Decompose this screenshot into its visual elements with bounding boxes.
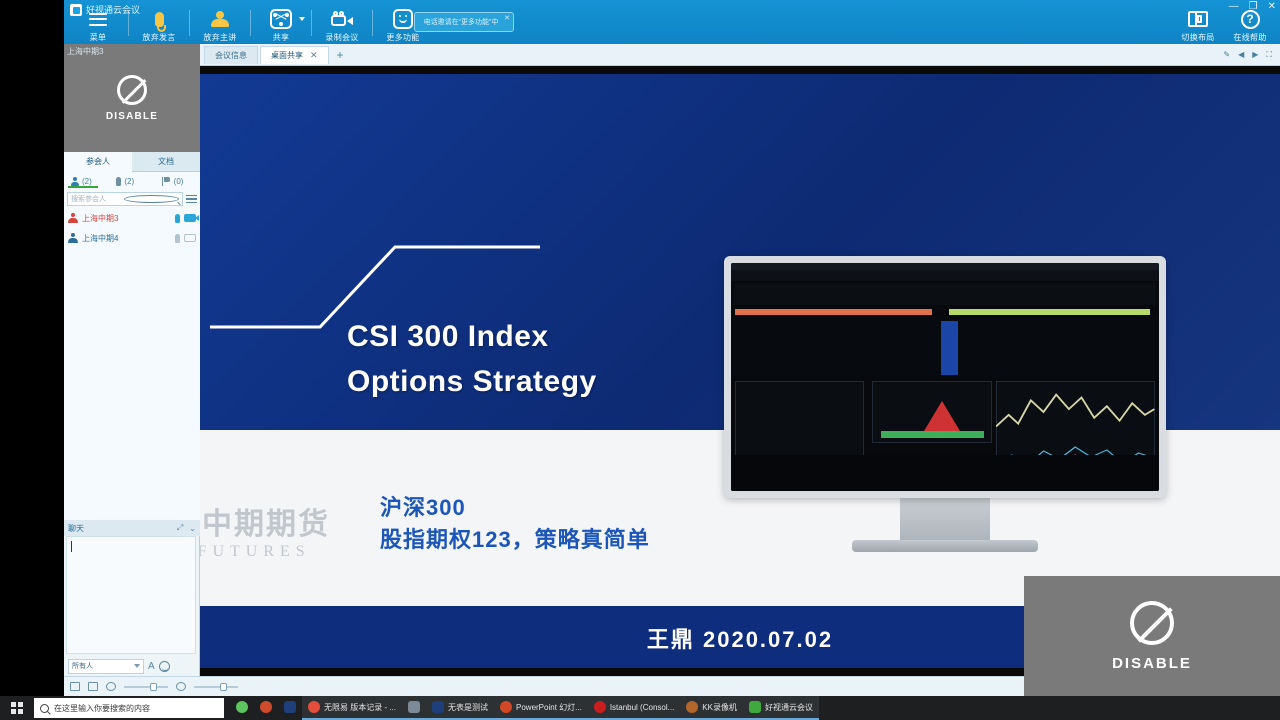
share-icon	[255, 8, 307, 30]
list-item[interactable]: 上海中期4	[64, 228, 200, 248]
taskbar-item-explorer[interactable]	[402, 696, 426, 720]
toolbar-buttons: 菜单 放弃发言 放弃主讲 共享	[72, 8, 429, 43]
presenter-icon	[194, 8, 246, 30]
windows-taskbar: 在这里输入你要搜索的内容 无限易 版本记录 - ... 无表是测试	[0, 696, 1280, 720]
participant-name: 上海中期3	[82, 213, 171, 224]
chat-controls: 所有人 A	[64, 656, 200, 676]
no-entry-icon	[117, 75, 147, 105]
tab-documents[interactable]: 文档	[132, 152, 200, 172]
taskbar-item-label: KK录像机	[702, 702, 737, 713]
layout-icon	[1172, 8, 1224, 30]
document-tabbar: 会议信息 桌面共享 ✕ + ✎ ◀ ▶ ⛶	[200, 44, 1280, 66]
taskbar-item-istanbul[interactable]: Istanbul (Consol...	[588, 696, 680, 720]
trading-software-screenshot	[731, 263, 1159, 491]
microphone-icon	[133, 8, 185, 30]
volume-icon[interactable]	[176, 682, 186, 691]
monitor-graphic	[724, 256, 1166, 556]
no-entry-icon	[1130, 601, 1174, 645]
avatar	[68, 233, 78, 243]
screen-icon[interactable]	[70, 682, 80, 691]
tab-meeting-info[interactable]: 会议信息	[204, 46, 258, 64]
chrome-icon	[308, 701, 320, 713]
monitor-stand	[900, 498, 990, 542]
taskbar-item-meeting-app[interactable]: 好视通云会议	[743, 696, 819, 720]
tab-desktop-share-label: 桌面共享	[271, 50, 303, 61]
menu-button[interactable]: 菜单	[72, 8, 124, 43]
list-item[interactable]: 上海中期3	[64, 208, 200, 228]
record-label: 录制会议	[316, 32, 368, 43]
search-placeholder: 搜索参会人	[71, 194, 124, 204]
taskbar-search-input[interactable]: 在这里输入你要搜索的内容	[34, 698, 224, 718]
camcorder-icon	[316, 8, 368, 30]
overlay-disable-label: DISABLE	[1112, 655, 1192, 672]
chat-recipient-select[interactable]: 所有人	[68, 659, 144, 674]
taskbar-items: 无限易 版本记录 - ... 无表是测试 PowerPoint 幻灯... Is…	[230, 696, 819, 720]
count-raised-hands[interactable]: (0)	[155, 177, 200, 186]
search-input[interactable]: 搜索参会人	[67, 192, 183, 206]
qq-icon	[260, 701, 272, 713]
feishu-icon	[284, 701, 296, 713]
microphone-volume-slider[interactable]	[124, 682, 168, 692]
chevron-down-icon	[134, 664, 140, 668]
taskbar-item-label: 好视通云会议	[765, 702, 813, 713]
taskbar-item-label: 无表是测试	[448, 702, 488, 713]
hamburger-icon	[72, 8, 124, 30]
online-help-label: 在线帮助	[1224, 32, 1276, 43]
online-help-button[interactable]: ? 在线帮助	[1224, 8, 1276, 43]
subtitle-line-2: 股指期权123，策略真简单	[380, 524, 650, 556]
give-up-speak-label: 放弃发言	[133, 32, 185, 43]
invite-tooltip: 电话邀请在“更多功能”中 ✕	[414, 12, 514, 32]
divider	[250, 10, 251, 36]
taskbar-item-wechat[interactable]	[230, 696, 254, 720]
count-raised-hands-value: (0)	[174, 177, 184, 186]
count-participants-value: (2)	[82, 177, 92, 186]
chat-messages	[66, 536, 196, 654]
subtitle-line-1: 沪深300	[380, 492, 650, 524]
title-line-1: CSI 300 Index	[347, 314, 597, 359]
expand-icon[interactable]: ⤢	[177, 523, 183, 533]
menu-label: 菜单	[72, 32, 124, 43]
participant-name: 上海中期4	[82, 233, 171, 244]
add-tab-button[interactable]: +	[331, 48, 350, 62]
taskbar-item-chrome[interactable]: 无限易 版本记录 - ...	[302, 696, 402, 720]
annotate-icon[interactable]: ✎	[1223, 50, 1230, 60]
divider	[128, 10, 129, 36]
count-speakers[interactable]: (2)	[109, 177, 154, 186]
video-disable-label: DISABLE	[106, 111, 158, 122]
app-icon	[749, 701, 761, 713]
microphone-on-icon[interactable]	[175, 214, 180, 223]
tab-desktop-share[interactable]: 桌面共享 ✕	[260, 46, 329, 64]
taskbar-item-qq[interactable]	[254, 696, 278, 720]
tabbar-tools: ✎ ◀ ▶ ⛶	[1223, 50, 1280, 60]
chevron-down-icon[interactable]: ⌄	[189, 524, 196, 533]
camera-off-icon[interactable]	[184, 234, 196, 242]
chat-recipient-value: 所有人	[72, 661, 134, 671]
taskbar-search-placeholder: 在这里输入你要搜索的内容	[54, 703, 150, 714]
divider	[372, 10, 373, 36]
divider	[311, 10, 312, 36]
title-line-2: Options Strategy	[347, 359, 597, 404]
toolbar-right-buttons: 切换布局 ? 在线帮助	[1172, 8, 1276, 43]
taskbar-item-feishu[interactable]	[278, 696, 302, 720]
monitor-base	[852, 540, 1038, 552]
person-icon	[71, 177, 79, 186]
video-disabled-overlay: DISABLE	[1024, 576, 1280, 696]
text-caret	[71, 541, 72, 552]
flag-icon	[162, 177, 171, 186]
taskbar-item-feishu-doc[interactable]: 无表是测试	[426, 696, 494, 720]
taskbar-item-kk-recorder[interactable]: KK录像机	[680, 696, 743, 720]
explorer-icon	[408, 701, 420, 713]
monitor-bezel	[724, 256, 1166, 498]
share-button[interactable]: 共享	[255, 8, 307, 43]
font-icon[interactable]: A	[148, 661, 155, 672]
microphone-icon[interactable]	[106, 682, 116, 691]
search-icon	[40, 704, 49, 713]
tab-participants[interactable]: 参会人	[64, 152, 132, 172]
sidebar: 上海中期3 DISABLE 参会人 文档 (2) (2)	[64, 44, 200, 696]
sidebar-search-row: 搜索参会人	[64, 190, 200, 208]
chat-header: 聊天 ⤢ ⌄	[64, 520, 200, 536]
close-icon[interactable]: ✕	[310, 50, 318, 61]
avatar	[68, 213, 78, 223]
chevron-down-icon[interactable]	[299, 17, 305, 21]
taskbar-item-label: Istanbul (Consol...	[610, 703, 674, 712]
share-label: 共享	[255, 32, 307, 43]
slide-subtitle: 沪深300 股指期权123，策略真简单	[380, 492, 650, 556]
powerpoint-icon	[500, 701, 512, 713]
feishu-icon	[432, 701, 444, 713]
count-participants[interactable]: (2)	[64, 177, 109, 186]
count-speakers-value: (2)	[124, 177, 134, 186]
record-button[interactable]: 录制会议	[316, 8, 368, 43]
page-title: CSI 300 Index Options Strategy	[347, 314, 597, 404]
istanbul-icon	[594, 701, 606, 713]
next-icon[interactable]: ▶	[1252, 50, 1258, 60]
participant-counts: (2) (2) (0)	[64, 172, 200, 190]
divider	[189, 10, 190, 36]
tab-meeting-info-label: 会议信息	[215, 50, 247, 61]
participant-list: 上海中期3 上海中期4	[64, 208, 200, 520]
give-up-speak-button[interactable]: 放弃发言	[133, 8, 185, 43]
give-up-host-label: 放弃主讲	[194, 32, 246, 43]
taskbar-item-label: 无限易 版本记录 - ...	[324, 702, 396, 713]
tooltip-close-icon[interactable]: ✕	[504, 14, 510, 22]
question-icon: ?	[1224, 8, 1276, 30]
app-toolbar: 好视通云会议 — ❐ ✕ 菜单 放弃发言 放弃主讲	[64, 0, 1280, 44]
list-icon[interactable]	[186, 195, 197, 204]
video-disabled-state: DISABLE	[64, 44, 200, 152]
list-icon[interactable]	[88, 682, 98, 691]
wechat-icon	[236, 701, 248, 713]
camera-on-icon[interactable]	[184, 214, 196, 222]
microphone-off-icon[interactable]	[175, 234, 180, 243]
switch-layout-label: 切换布局	[1172, 32, 1224, 43]
sidebar-tabs: 参会人 文档	[64, 152, 200, 172]
prev-icon[interactable]: ◀	[1238, 50, 1244, 60]
invite-tooltip-text: 电话邀请在“更多功能”中	[424, 17, 499, 27]
search-icon[interactable]	[124, 195, 179, 203]
speaker-volume-slider[interactable]	[194, 682, 238, 692]
fullscreen-icon[interactable]: ⛶	[1266, 50, 1272, 60]
taskbar-item-powerpoint[interactable]: PowerPoint 幻灯...	[494, 696, 588, 720]
emoji-icon[interactable]	[159, 661, 170, 672]
more-label: 更多功能	[377, 32, 429, 43]
video-tile[interactable]: 上海中期3 DISABLE	[64, 44, 200, 152]
start-icon[interactable]	[0, 696, 34, 720]
give-up-host-button[interactable]: 放弃主讲	[194, 8, 246, 43]
chat-title: 聊天	[68, 523, 84, 534]
microphone-icon	[116, 177, 121, 186]
taskbar-item-label: PowerPoint 幻灯...	[516, 702, 582, 713]
screen: 好视通云会议 — ❐ ✕ 菜单 放弃发言 放弃主讲	[0, 0, 1280, 720]
switch-layout-button[interactable]: 切换布局	[1172, 8, 1224, 43]
kk-icon	[686, 701, 698, 713]
